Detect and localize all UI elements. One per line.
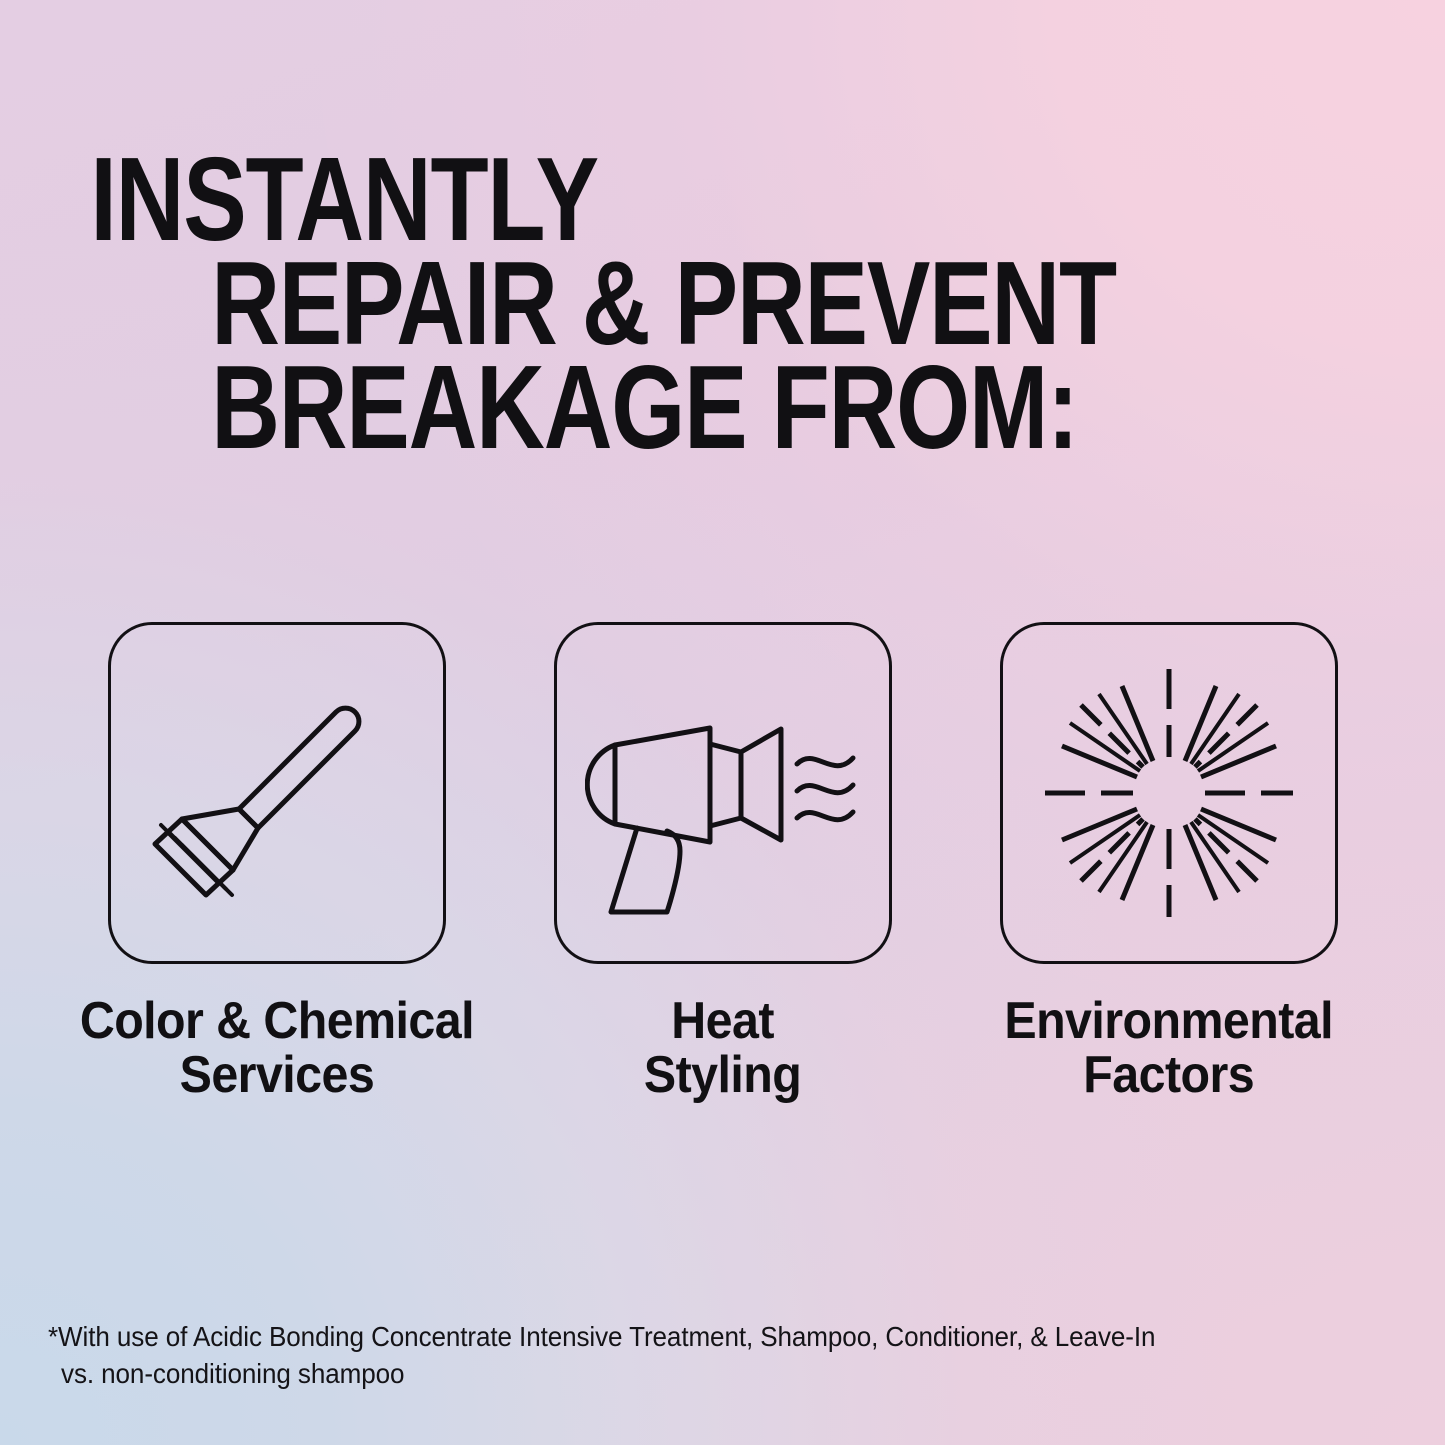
sunburst-icon <box>1041 665 1297 921</box>
hair-dryer-icon <box>585 668 861 918</box>
benefit-item-heat-styling: Heat Styling <box>552 622 894 1102</box>
promo-poster: INSTANTLY REPAIR & PREVENT BREAKAGE FROM… <box>0 0 1445 1445</box>
headline-line-3: BREAKAGE FROM: <box>211 356 1156 460</box>
benefit-caption-line-1: Color & Chemical <box>80 994 474 1048</box>
benefit-caption-line-2: Services <box>80 1048 474 1102</box>
benefit-caption-line-1: Environmental <box>1005 994 1334 1048</box>
benefit-icon-box <box>108 622 446 964</box>
benefits-row: Color & Chemical Services <box>106 622 1340 1102</box>
benefit-caption-line-2: Styling <box>644 1048 801 1102</box>
benefit-icon-box <box>554 622 892 964</box>
footnote-line-1: *With use of Acidic Bonding Concentrate … <box>48 1318 1294 1355</box>
benefit-item-color-chemical-services: Color & Chemical Services <box>106 622 448 1102</box>
footnote-disclaimer: *With use of Acidic Bonding Concentrate … <box>48 1318 1294 1392</box>
benefit-caption-line-2: Factors <box>1005 1048 1334 1102</box>
page-title: INSTANTLY REPAIR & PREVENT BREAKAGE FROM… <box>0 148 1156 460</box>
footnote-line-2: vs. non-conditioning shampoo <box>48 1355 1294 1392</box>
benefit-caption: Color & Chemical Services <box>80 994 474 1102</box>
benefit-caption: Environmental Factors <box>1005 994 1334 1102</box>
benefit-item-environmental-factors: Environmental Factors <box>998 622 1340 1102</box>
benefit-caption: Heat Styling <box>644 994 801 1102</box>
benefit-caption-line-1: Heat <box>644 994 801 1048</box>
benefit-icon-box <box>1000 622 1338 964</box>
hair-color-brush-icon <box>142 658 412 928</box>
